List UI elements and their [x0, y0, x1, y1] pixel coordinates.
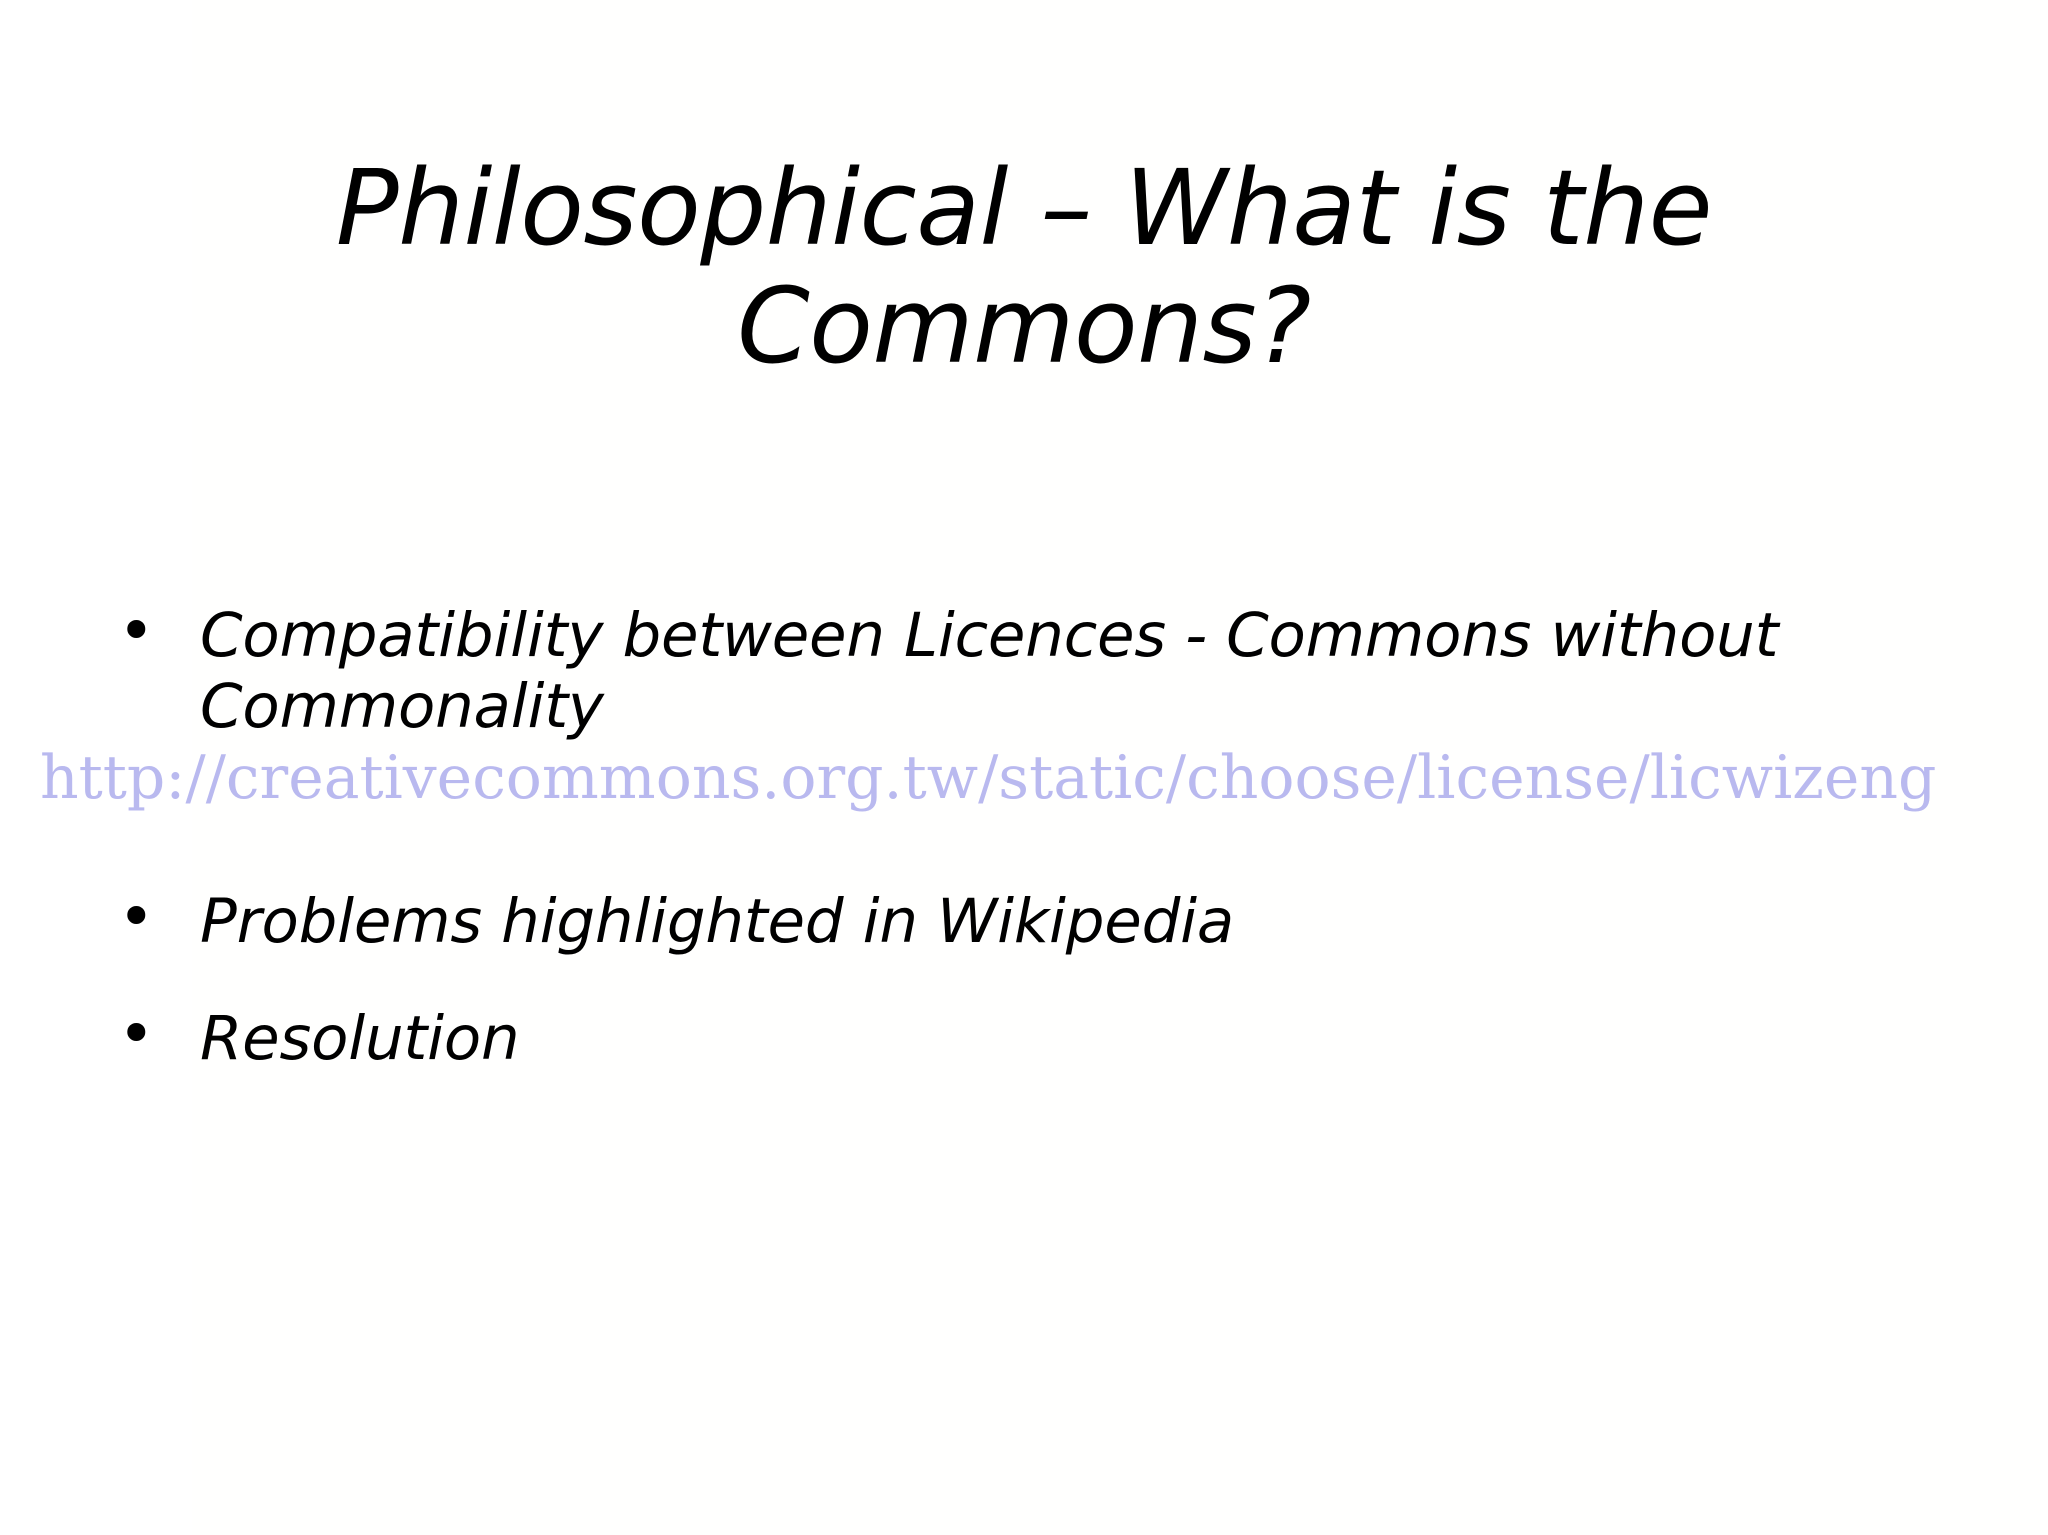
license-url-link[interactable]: http://creativecommons.org.tw/static/cho…: [40, 745, 1970, 812]
bullet-item-3-label: Resolution: [200, 1003, 1970, 1074]
spacer-2: [40, 957, 1970, 1003]
slide-body: • Compatibility between Licences - Commo…: [40, 600, 1970, 1075]
bullet-item-3: • Resolution: [40, 1003, 1970, 1074]
bullet-item-2: • Problems highlighted in Wikipedia: [40, 886, 1970, 957]
bullet-marker-icon: •: [118, 600, 142, 662]
slide-title: Philosophical – What is the Commons?: [128, 150, 1920, 385]
slide-title-text: Philosophical – What is the Commons?: [128, 150, 1920, 385]
bullet-item-1-label: Compatibility between Licences - Commons…: [200, 600, 1970, 743]
bullet-item-2-label: Problems highlighted in Wikipedia: [200, 886, 1970, 957]
bullet-item-1: • Compatibility between Licences - Commo…: [40, 600, 1970, 743]
license-url-text: http://creativecommons.org.tw/static/cho…: [40, 743, 1936, 813]
slide: Philosophical – What is the Commons? • C…: [0, 0, 2048, 1535]
bullet-marker-icon: •: [118, 1003, 142, 1065]
spacer-1: [40, 812, 1970, 886]
bullet-marker-icon: •: [118, 886, 142, 948]
